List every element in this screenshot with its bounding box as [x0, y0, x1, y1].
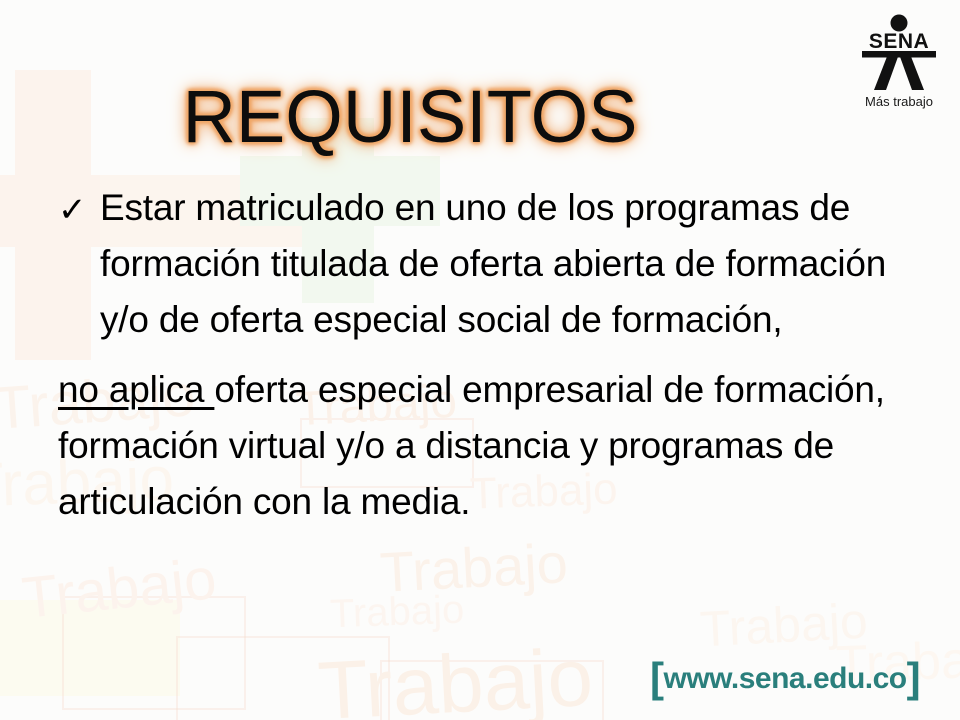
- requirement-paragraph-2: no aplica oferta especial empresarial de…: [58, 362, 918, 530]
- footer-website-url[interactable]: [www.sena.edu.co]: [650, 662, 920, 696]
- requirement-paragraph-1: ✓Estar matriculado en uno de los program…: [58, 180, 918, 348]
- sena-figure-icon: SENA: [846, 14, 952, 92]
- requirement-paragraph-1-text: Estar matriculado en uno de los programa…: [100, 187, 886, 340]
- body-text-block: ✓Estar matriculado en uno de los program…: [58, 180, 918, 530]
- bracket-close: ]: [907, 654, 921, 701]
- sena-logo-tagline: Más trabajo: [846, 94, 952, 109]
- no-aplica-emphasis: no aplica: [58, 369, 214, 410]
- sena-logo-mark: SENA: [846, 14, 952, 92]
- svg-text:SENA: SENA: [869, 30, 929, 53]
- bracket-open: [: [650, 654, 664, 701]
- slide-content: REQUISITOS SENA Más trabajo: [0, 0, 960, 720]
- sena-logo: SENA Más trabajo: [846, 14, 952, 118]
- checkmark-icon: ✓: [58, 182, 86, 238]
- slide-canvas: Trabajo Trabajo Trabajo Trabajo Trabajo …: [0, 0, 960, 720]
- footer-url-text: www.sena.edu.co: [664, 662, 907, 695]
- page-title: REQUISITOS: [0, 80, 820, 154]
